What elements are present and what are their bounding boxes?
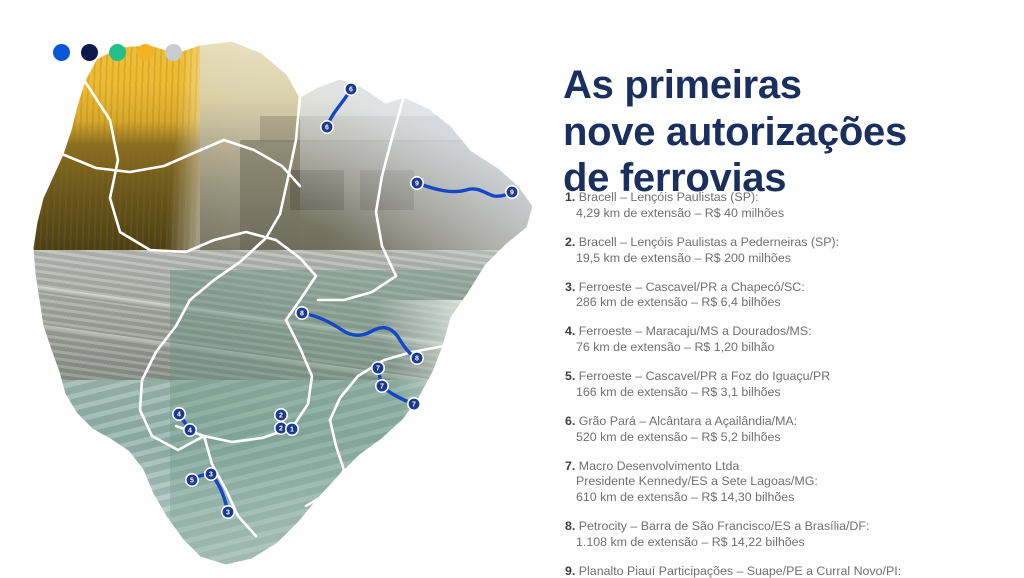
svg-text:3: 3 [209,472,213,479]
svg-text:2: 2 [279,426,283,433]
decor-dot-green [109,44,126,61]
svg-text:8: 8 [415,356,419,363]
svg-text:6: 6 [349,87,353,94]
list-item: 7. Macro Desenvolvimento LtdaPresidente … [565,459,985,507]
map-panel: 66998877744221533 [0,0,545,578]
route-marker-4: 4 [184,424,196,436]
decor-dot-amber [137,44,154,61]
list-item-number: 2. [565,235,579,249]
list-item: 2. Bracell – Lençóis Paulistas a Pederne… [565,235,985,267]
infographic-slide: 66998877744221533 As primeiras nove auto… [0,0,1024,578]
route-marker-7: 7 [372,362,384,374]
svg-text:2: 2 [279,413,283,420]
svg-text:1: 1 [290,427,294,434]
svg-text:4: 4 [188,428,192,435]
route-marker-4: 4 [173,408,185,420]
list-item-name: 9. Planalto Piauí Participações – Suape/… [565,564,985,578]
svg-text:7: 7 [376,366,380,373]
list-item-detail: 76 km de extensão – R$ 1,20 bilhão [565,340,985,356]
route-marker-7: 7 [408,398,420,410]
list-item: 8. Petrocity – Barra de São Francisco/ES… [565,519,985,551]
svg-text:9: 9 [415,181,419,188]
page-title: As primeiras nove autorizações de ferrov… [563,62,993,202]
list-item-number: 9. [565,564,579,578]
list-item-name: 2. Bracell – Lençóis Paulistas a Pederne… [565,235,985,251]
list-item-number: 8. [565,519,579,533]
svg-text:8: 8 [300,311,304,318]
route-marker-3: 3 [222,506,234,518]
list-item-name: 5. Ferroeste – Cascavel/PR a Foz do Igua… [565,369,985,385]
decor-dot-navy [81,44,98,61]
list-item-endpoints: Presidente Kennedy/ES a Sete Lagoas/MG: [565,474,985,490]
list-item: 6. Grão Pará – Alcântara a Açailândia/MA… [565,414,985,446]
list-item-detail: 19,5 km de extensão – R$ 200 milhões [565,251,985,267]
svg-text:7: 7 [412,402,416,409]
svg-text:5: 5 [190,478,194,485]
list-item: 3. Ferroeste – Cascavel/PR a Chapecó/SC:… [565,280,985,312]
svg-text:4: 4 [177,412,181,419]
list-item-number: 6. [565,414,579,428]
svg-text:3: 3 [226,510,230,517]
list-item-detail: 286 km de extensão – R$ 6,4 bilhões [565,295,985,311]
list-item-name: 7. Macro Desenvolvimento Ltda [565,459,985,475]
svg-text:7: 7 [380,384,384,391]
brazil-map-svg: 66998877744221533 [0,0,545,578]
list-item-name: 6. Grão Pará – Alcântara a Açailândia/MA… [565,414,985,430]
list-item: 5. Ferroeste – Cascavel/PR a Foz do Igua… [565,369,985,401]
route-marker-6: 6 [345,83,357,95]
route-marker-9: 9 [411,177,423,189]
list-item-number: 7. [565,459,579,473]
photo-haze-blue [300,0,545,300]
decor-dot-gray [165,44,182,61]
authorizations-list: 1. Bracell – Lençóis Paulistas (SP):4,29… [565,190,985,578]
route-marker-1: 1 [286,423,298,435]
list-item-detail: 4,29 km de extensão – R$ 40 milhões [565,206,985,222]
list-item-number: 3. [565,280,579,294]
route-marker-7: 7 [376,380,388,392]
decor-dot-blue [53,44,70,61]
svg-text:6: 6 [325,125,329,132]
list-item-name: 8. Petrocity – Barra de São Francisco/ES… [565,519,985,535]
list-item-name: 3. Ferroeste – Cascavel/PR a Chapecó/SC: [565,280,985,296]
list-item-detail: 1.108 km de extensão – R$ 14,22 bilhões [565,535,985,551]
route-marker-8: 8 [296,307,308,319]
route-marker-2: 2 [275,409,287,421]
route-marker-6: 6 [321,121,333,133]
title-line-2: nove autorizações [563,110,907,154]
route-marker-9: 9 [506,186,518,198]
route-marker-3: 3 [205,468,217,480]
text-panel: As primeiras nove autorizações de ferrov… [545,0,1024,578]
list-item-name: 1. Bracell – Lençóis Paulistas (SP): [565,190,985,206]
list-item: 4. Ferroeste – Maracaju/MS a Dourados/MS… [565,324,985,356]
list-item-number: 4. [565,324,579,338]
list-item-number: 1. [565,190,579,204]
list-item-detail: 610 km de extensão – R$ 14,30 bilhões [565,490,985,506]
list-item: 9. Planalto Piauí Participações – Suape/… [565,564,985,578]
route-marker-8: 8 [411,352,423,364]
svg-text:9: 9 [510,190,514,197]
title-line-1: As primeiras [563,63,802,107]
list-item: 1. Bracell – Lençóis Paulistas (SP):4,29… [565,190,985,222]
list-item-name: 4. Ferroeste – Maracaju/MS a Dourados/MS… [565,324,985,340]
list-item-detail: 520 km de extensão – R$ 5,2 bilhões [565,430,985,446]
tint-white-overlay [330,300,545,578]
route-marker-5: 5 [186,474,198,486]
list-item-number: 5. [565,369,579,383]
list-item-detail: 166 km de extensão – R$ 3,1 bilhões [565,385,985,401]
